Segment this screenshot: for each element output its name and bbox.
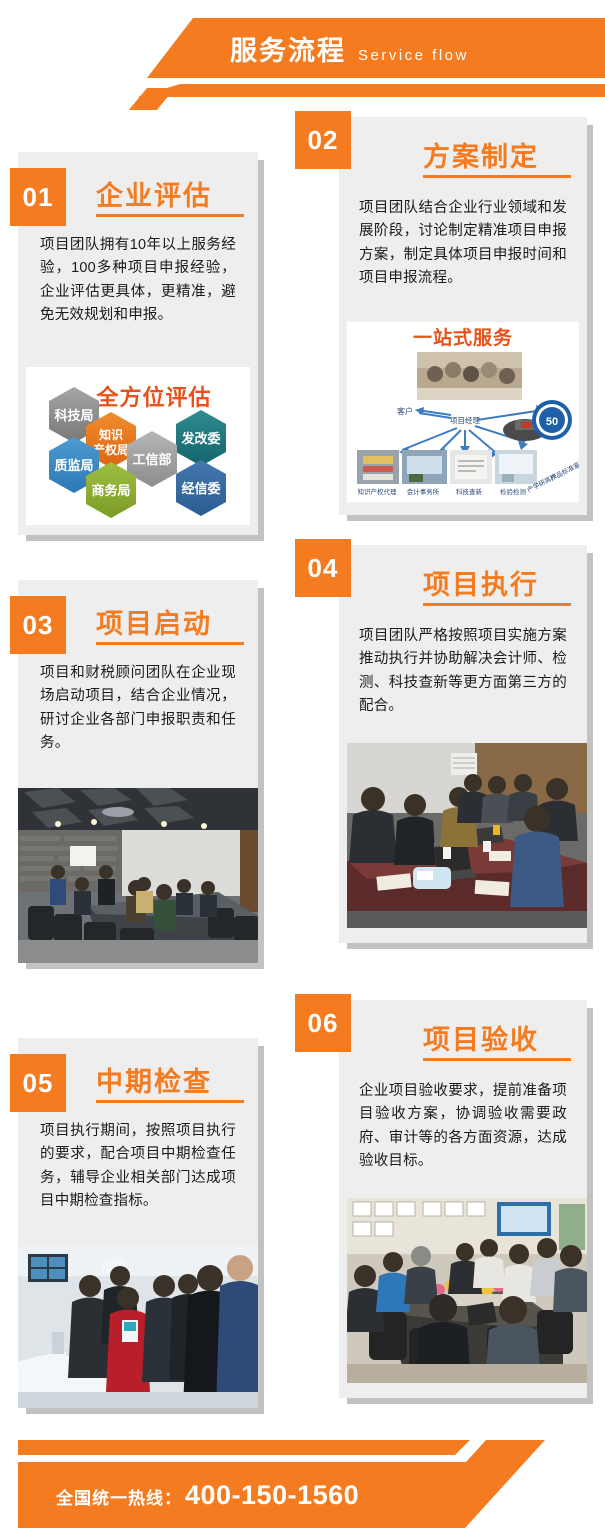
photo-site-visit <box>18 1246 258 1408</box>
card-04[interactable]: 项目执行 项目团队严格按照项目实施方案推动执行并协助解决会计师、检测、科技查新等… <box>339 545 587 943</box>
card-02-title: 方案制定 <box>423 135 539 174</box>
card-04-title: 项目执行 <box>423 563 539 602</box>
page-title: 服务流程 <box>230 38 346 65</box>
card-05-number-badge: 05 <box>10 1054 66 1112</box>
all-round-assessment-diagram-icon: 全方位评估 科技局 知识 产权局 发改委 质监局 工信部 商 <box>26 367 250 525</box>
svg-text:50: 50 <box>546 416 558 428</box>
svg-text:一站式服务: 一站式服务 <box>413 326 513 349</box>
card-03-title-rule <box>96 642 244 645</box>
card-02-number-badge: 02 <box>295 111 351 169</box>
svg-text:科技查新: 科技查新 <box>456 487 483 496</box>
svg-text:会计事务所: 会计事务所 <box>407 487 440 496</box>
page-subtitle: Service flow <box>358 48 469 63</box>
card-01-title-rule <box>96 214 244 217</box>
photo-acceptance-meeting <box>347 1198 587 1383</box>
card-03-media-photo <box>18 788 258 963</box>
service-flow-infographic: 服务流程 Service flow 企业评估 项目团队拥有10年以上服务经验，1… <box>0 0 605 1538</box>
card-03-number-badge: 03 <box>10 596 66 654</box>
card-05[interactable]: 中期检查 项目执行期间，按照项目执行的要求，配合项目中期检查任务，辅导企业相关部… <box>18 1038 258 1408</box>
card-02-body: 项目团队结合企业行业领域和发展阶段，讨论制定精准项目申报方案，制定具体项目申报时… <box>359 197 567 291</box>
card-02-title-rule <box>423 175 571 178</box>
svg-text:项目经理: 项目经理 <box>450 415 480 425</box>
card-06[interactable]: 项目验收 企业项目验收要求，提前准备项目验收方案，协调验收需要政府、审计等的各方… <box>339 1000 587 1398</box>
card-05-title-rule <box>96 1100 244 1103</box>
header-title-group: 服务流程 Service flow <box>230 38 469 65</box>
card-01-media-hex-diagram: 全方位评估 科技局 知识 产权局 发改委 质监局 工信部 商 <box>26 367 250 525</box>
hotline-label: 全国统一热线： <box>56 1484 182 1509</box>
card-03[interactable]: 项目启动 项目和财税顾问团队在企业现场启动项目，结合企业情况，研讨企业各部门申报… <box>18 580 258 963</box>
svg-text:商务局: 商务局 <box>91 483 130 498</box>
card-01-number-badge: 01 <box>10 168 66 226</box>
svg-text:经信委: 经信委 <box>181 481 220 496</box>
card-05-title: 中期检查 <box>96 1060 212 1099</box>
card-06-body: 企业项目验收要求，提前准备项目验收方案，协调验收需要政府、审计等的各方面资源，达… <box>359 1080 567 1174</box>
footer-text-group: 全国统一热线： 400-150-1560 <box>56 1480 359 1511</box>
card-04-media-photo <box>347 743 587 928</box>
one-stop-service-diagram-icon: 一站式服务 客户 项目经理 <box>347 322 579 502</box>
card-02[interactable]: 方案制定 项目团队结合企业行业领域和发展阶段，讨论制定精准项目申报方案，制定具体… <box>339 117 587 515</box>
card-01-title: 企业评估 <box>96 174 212 213</box>
hotline-number: 400-150-1560 <box>185 1480 359 1511</box>
svg-text:全方位评估: 全方位评估 <box>95 385 211 410</box>
svg-text:知识: 知识 <box>98 427 123 442</box>
card-06-title: 项目验收 <box>423 1018 539 1057</box>
card-05-body: 项目执行期间，按照项目执行的要求，配合项目中期检查任务，辅导企业相关部门达成项目… <box>40 1120 236 1214</box>
svg-text:发改委: 发改委 <box>180 431 220 446</box>
svg-text:检验检测: 检验检测 <box>500 487 527 496</box>
card-01-body: 项目团队拥有10年以上服务经验，100多种项目申报经验，企业评估更具体，更精准，… <box>40 234 236 328</box>
header-banner: 服务流程 Service flow <box>0 0 605 110</box>
card-04-number-badge: 04 <box>295 539 351 597</box>
card-03-title: 项目启动 <box>96 602 212 641</box>
card-02-media-one-stop-diagram: 一站式服务 客户 项目经理 <box>347 322 579 502</box>
card-06-media-photo <box>347 1198 587 1383</box>
svg-text:科技局: 科技局 <box>54 408 93 423</box>
footer-shape-icon <box>0 1418 605 1538</box>
card-03-body: 项目和财税顾问团队在企业现场启动项目，结合企业情况，研讨企业各部门申报职责和任务… <box>40 662 236 756</box>
svg-text:质监局: 质监局 <box>54 458 93 473</box>
photo-worksession <box>347 743 587 928</box>
card-04-body: 项目团队严格按照项目实施方案推动执行并协助解决会计师、检测、科技查新等更方面第三… <box>359 625 567 719</box>
card-06-number-badge: 06 <box>295 994 351 1052</box>
card-06-title-rule <box>423 1058 571 1061</box>
svg-text:工信部: 工信部 <box>132 452 171 467</box>
svg-text:知识产权代理: 知识产权代理 <box>358 487 398 496</box>
photo-meeting-room <box>18 788 258 963</box>
card-04-title-rule <box>423 603 571 606</box>
footer-hotline-bar: 全国统一热线： 400-150-1560 <box>0 1418 605 1538</box>
card-01[interactable]: 企业评估 项目团队拥有10年以上服务经验，100多种项目申报经验，企业评估更具体… <box>18 152 258 535</box>
card-05-media-photo <box>18 1246 258 1408</box>
svg-text:客户: 客户 <box>397 406 413 416</box>
